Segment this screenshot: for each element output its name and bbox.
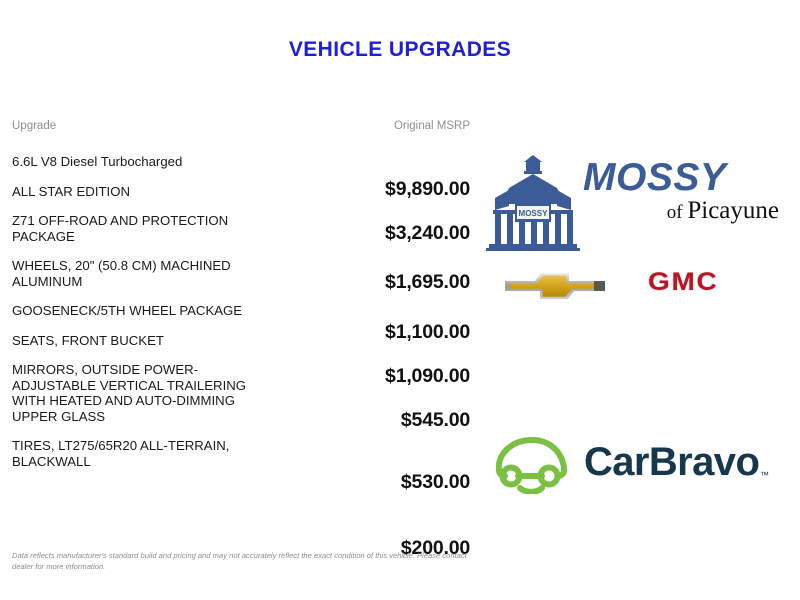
column-header-msrp: Original MSRP	[394, 120, 470, 132]
mossy-dealer-logo: MOSSY MOSSY of Picayune	[485, 154, 785, 254]
dealership-building-icon: MOSSY	[485, 154, 581, 259]
table-row: TIRES, LT275/65R20 ALL-TERRAIN, BLACKWAL…	[12, 438, 312, 469]
table-body: 6.6L V8 Diesel Turbocharged ALL STAR EDI…	[12, 154, 470, 469]
gmc-logo-text: GMC	[648, 268, 718, 297]
table-row: Z71 OFF-ROAD AND PROTECTION PACKAGE	[12, 213, 312, 244]
table-row: SEATS, FRONT BUCKET	[12, 333, 312, 349]
mossy-name-text: MOSSY	[583, 156, 783, 200]
column-header-upgrade: Upgrade	[12, 120, 56, 132]
table-row: ALL STAR EDITION	[12, 184, 312, 200]
carbravo-trademark: ™	[760, 470, 769, 480]
mossy-subtitle: of Picayune	[583, 197, 783, 227]
msrp-value: $530.00	[12, 471, 470, 493]
carbravo-name-text: CarBravo	[584, 439, 759, 485]
table-row: GOOSENECK/5TH WHEEL PACKAGE	[12, 303, 312, 319]
upgrade-label-column: 6.6L V8 Diesel Turbocharged ALL STAR EDI…	[12, 154, 312, 469]
dealer-logo-panel: MOSSY MOSSY of Picayune	[480, 0, 800, 600]
table-row: MIRRORS, OUTSIDE POWER- ADJUSTABLE VERTI…	[12, 362, 312, 424]
table-row: 6.6L V8 Diesel Turbocharged	[12, 154, 312, 170]
disclaimer-text: Data reflects manufacturer's standard bu…	[12, 551, 482, 572]
table-row: WHEELS, 20" (50.8 CM) MACHINED ALUMINUM	[12, 258, 312, 289]
building-sign-text: MOSSY	[519, 209, 549, 218]
upgrades-table: Upgrade Original MSRP 6.6L V8 Diesel Tur…	[12, 120, 470, 483]
carbravo-logo: CarBravo ™	[492, 432, 792, 502]
mossy-wordmark: MOSSY of Picayune	[583, 156, 783, 227]
mossy-subtitle-of: of	[667, 202, 688, 223]
mossy-subtitle-city: Picayune	[687, 197, 779, 224]
table-header-row: Upgrade Original MSRP	[12, 120, 470, 142]
carbravo-car-smile-icon	[492, 432, 574, 499]
chevrolet-bowtie-icon	[502, 266, 608, 309]
brand-logo-row: GMC	[480, 262, 800, 310]
